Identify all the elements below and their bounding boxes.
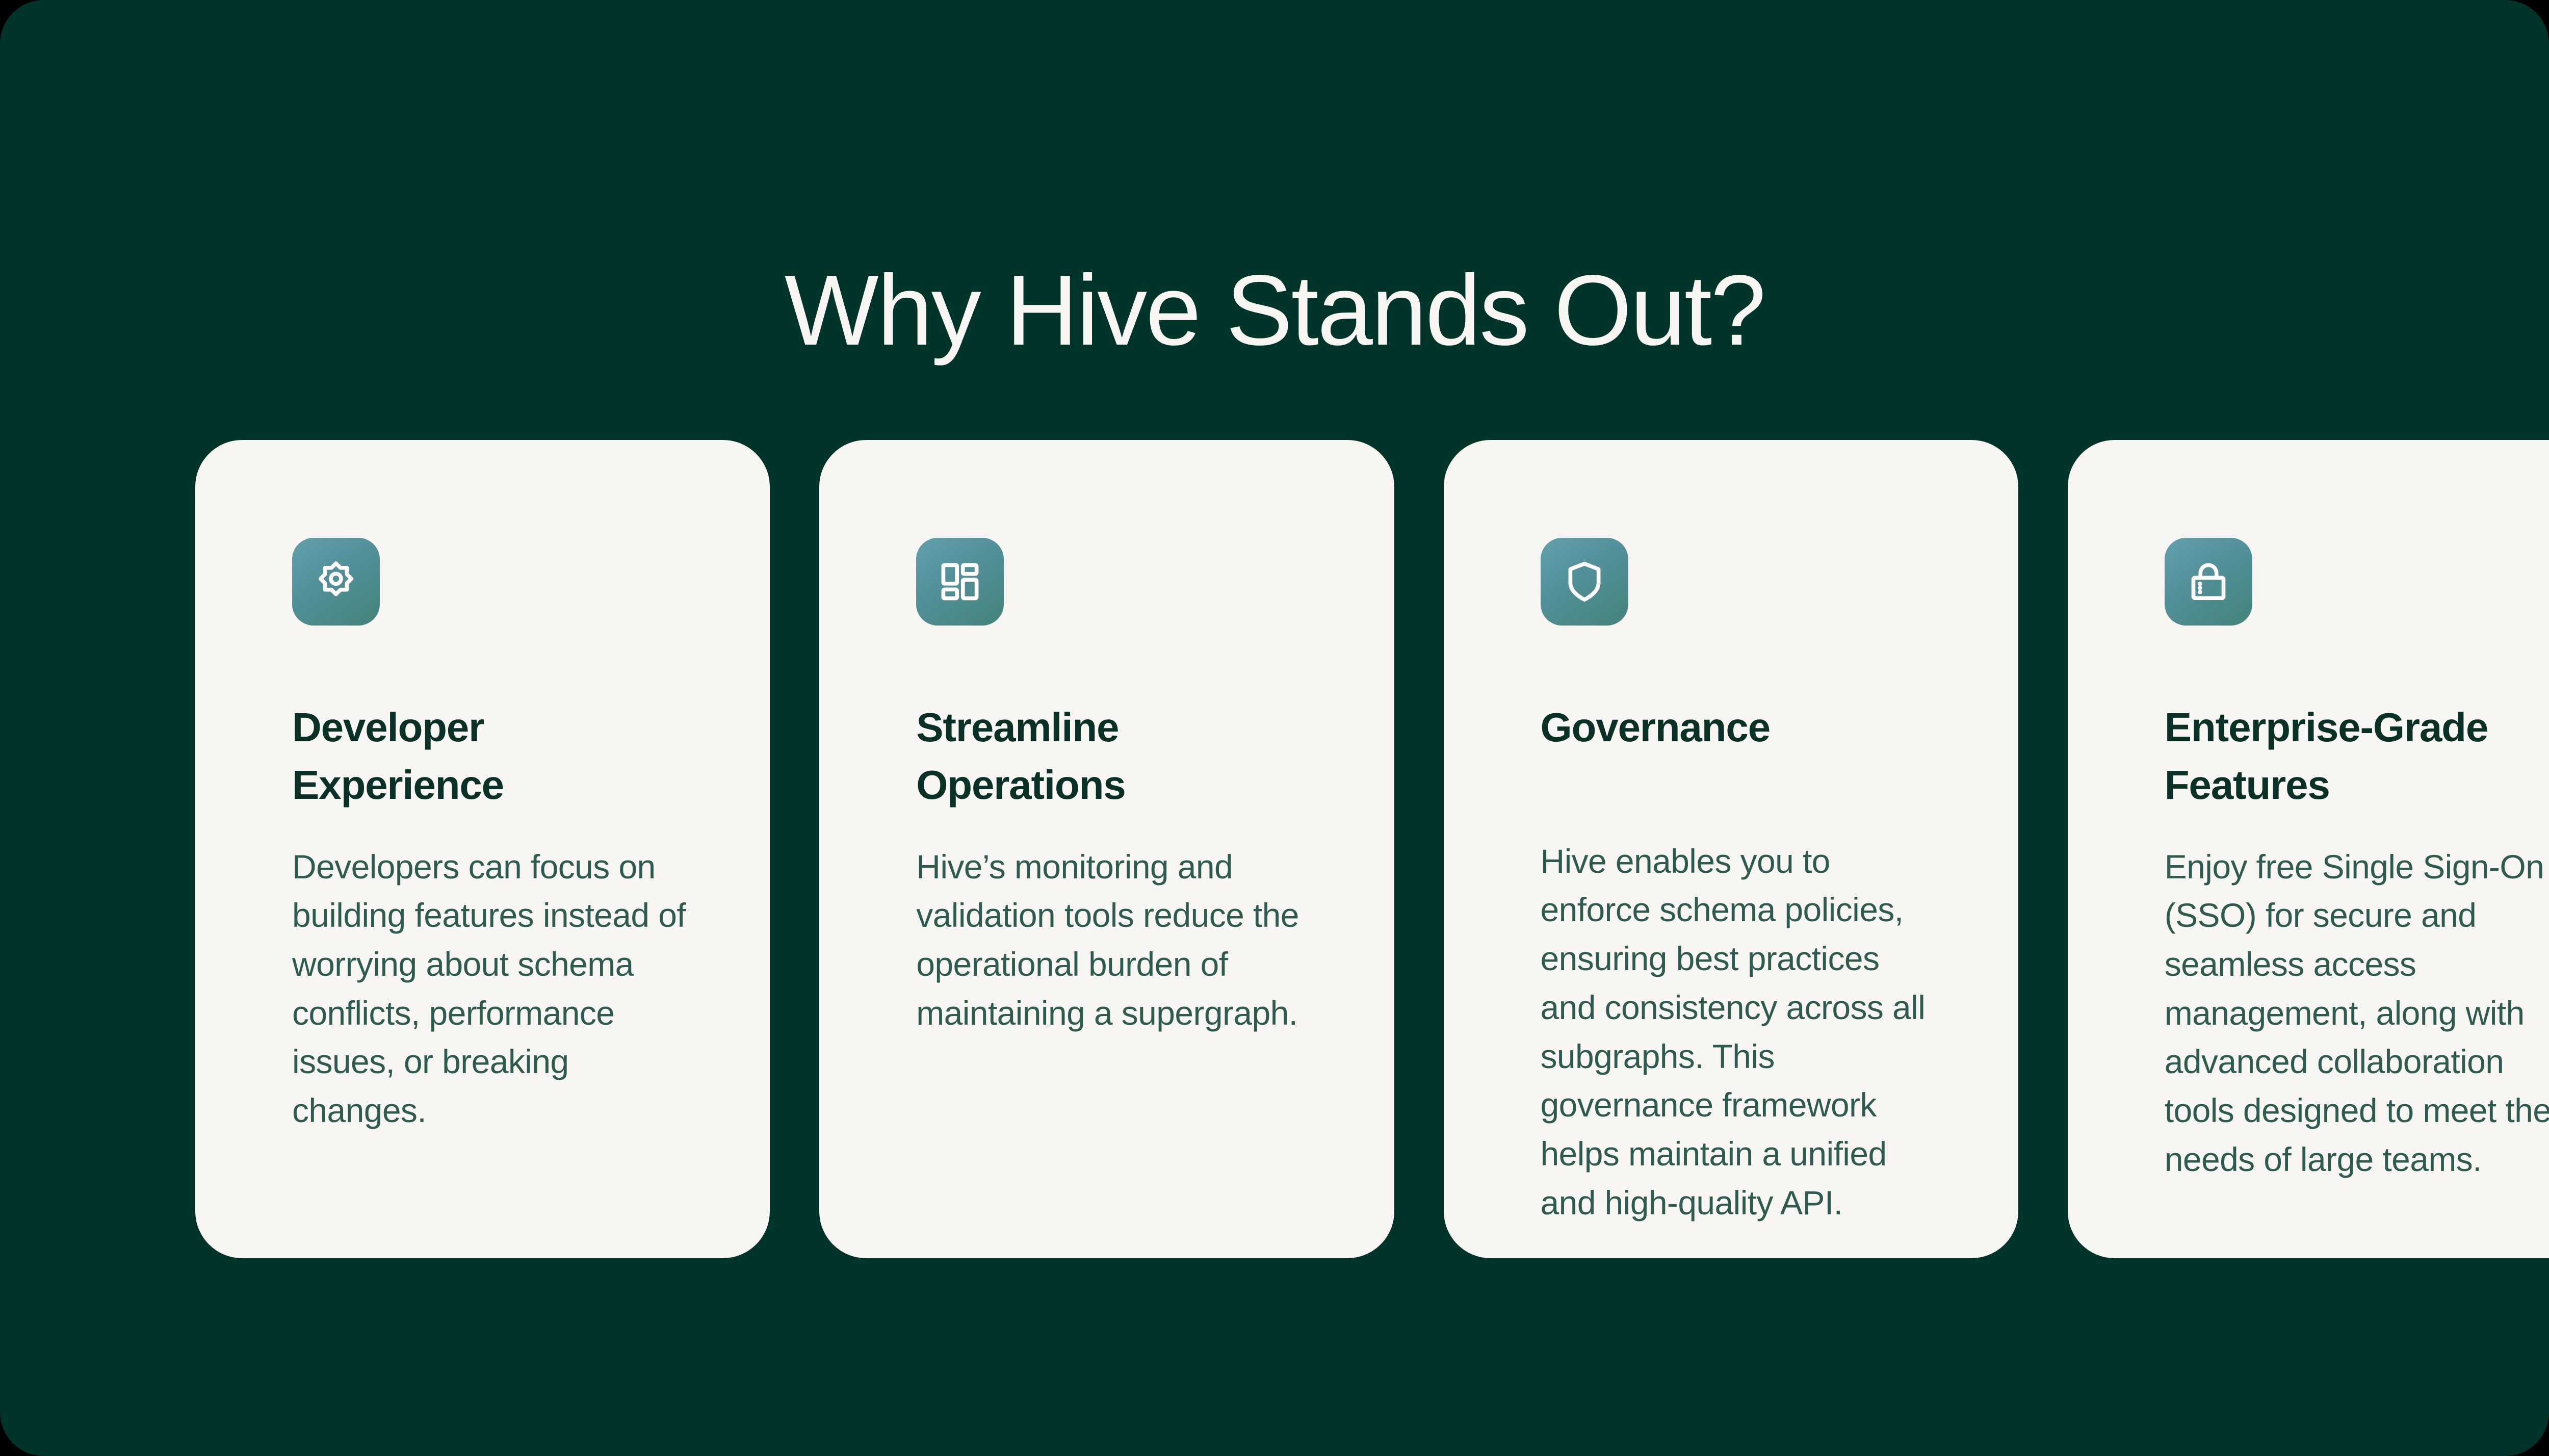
page-root: Why Hive Stands Out? Developer Experienc… <box>0 0 2549 1456</box>
feature-card[interactable]: Governance Hive enables you to enforce s… <box>1444 440 2018 1258</box>
icon-tile <box>292 538 380 626</box>
dashboard-layout-icon <box>937 558 983 605</box>
card-title: Developer Experience <box>292 699 680 814</box>
settings-gear-icon <box>313 558 359 605</box>
feature-card[interactable]: Developer Experience Developers can focu… <box>195 440 770 1258</box>
feature-card-grid: Developer Experience Developers can focu… <box>195 440 2549 1258</box>
icon-tile <box>916 538 1004 626</box>
lock-icon <box>2185 558 2232 605</box>
card-body: Hive enables you to enforce schema polic… <box>1541 837 1942 1228</box>
page-title: Why Hive Stands Out? <box>0 254 2549 367</box>
card-title: Governance <box>1541 699 1928 757</box>
card-body: Developers can focus on building feature… <box>292 843 693 1135</box>
card-title: Enterprise-Grade Features <box>2165 699 2549 814</box>
shield-icon <box>1561 558 1608 605</box>
feature-card[interactable]: Enterprise-Grade Features Enjoy free Sin… <box>2068 440 2549 1258</box>
feature-card[interactable]: Streamline Operations Hive’s monitoring … <box>819 440 1394 1258</box>
card-body: Hive’s monitoring and validation tools r… <box>916 843 1317 1038</box>
icon-tile <box>1541 538 1628 626</box>
card-title: Streamline Operations <box>916 699 1304 814</box>
icon-tile <box>2165 538 2252 626</box>
card-body: Enjoy free Single Sign-On (SSO) for secu… <box>2165 843 2549 1184</box>
